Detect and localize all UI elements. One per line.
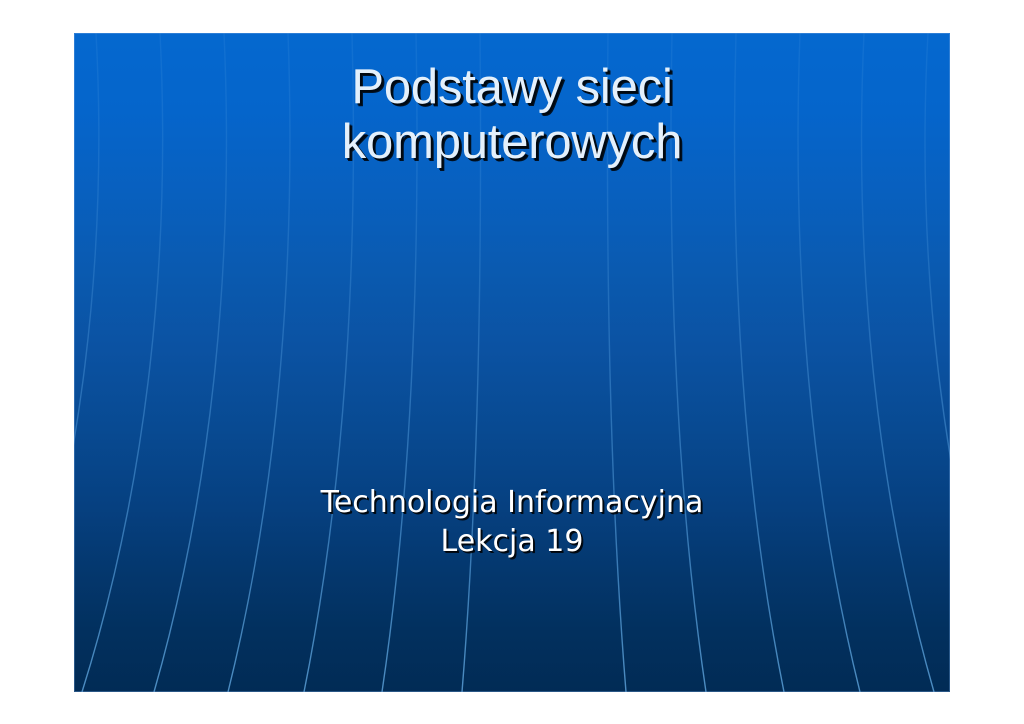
slide-canvas: Podstawy sieci komputerowych Technologia… xyxy=(74,33,950,692)
slide-subtitle-line-2: Lekcja 19 xyxy=(74,522,950,561)
slide-title-line-2: komputerowych xyxy=(74,115,950,170)
slide-subtitle-line-1: Technologia Informacyjna xyxy=(74,483,950,522)
slide-title-line-1: Podstawy sieci xyxy=(74,60,950,115)
slide-title: Podstawy sieci komputerowych xyxy=(74,60,950,170)
slide-subtitle: Technologia Informacyjna Lekcja 19 xyxy=(74,483,950,561)
slide-page: Podstawy sieci komputerowych Technologia… xyxy=(0,0,1024,724)
